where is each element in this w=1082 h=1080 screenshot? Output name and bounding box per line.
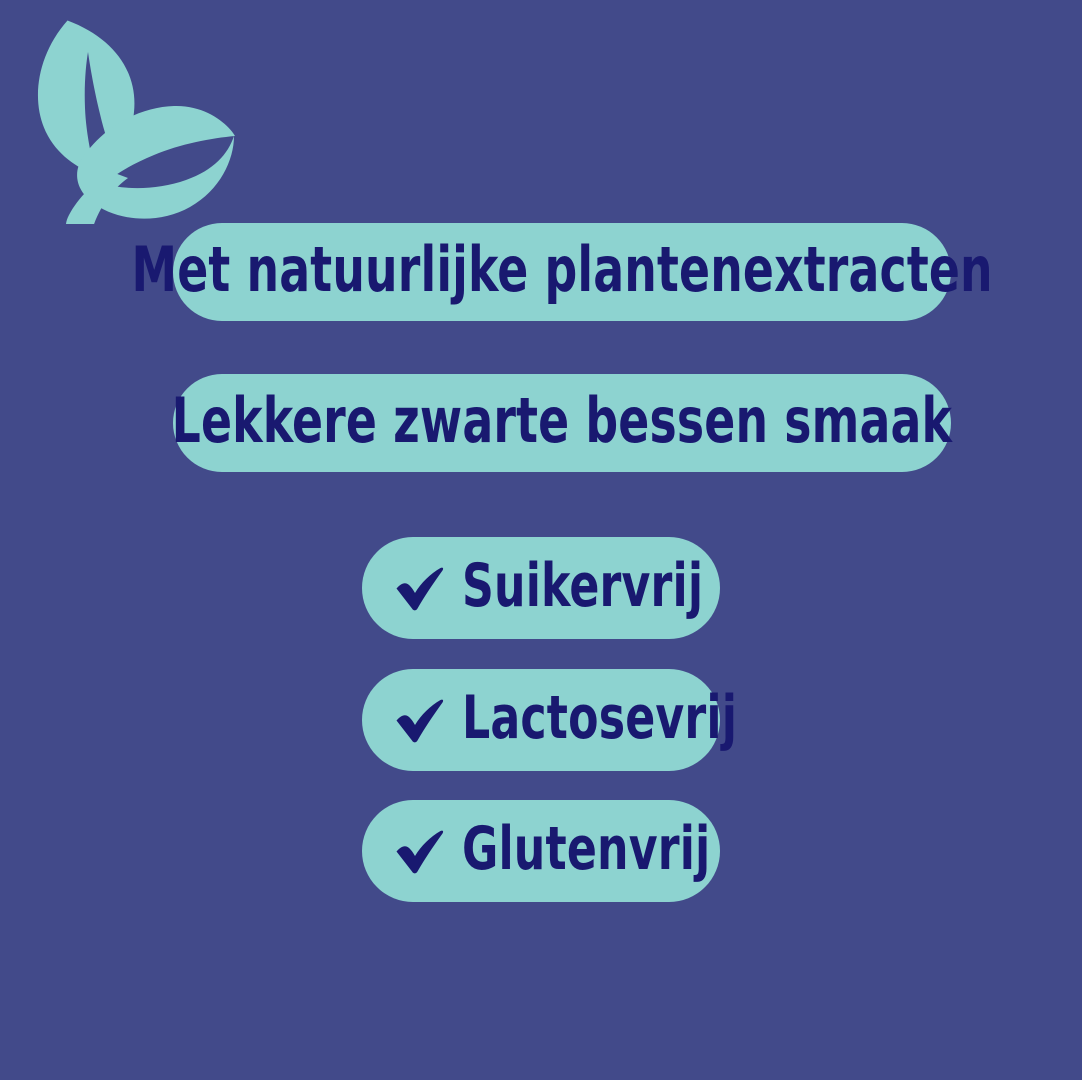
claim-label: Suikervrij [462, 556, 703, 616]
claim-label: Glutenvrij [462, 819, 710, 879]
claim-pill-glutenvrij: Glutenvrij [362, 800, 720, 902]
claim-label: Lekkere zwarte bessen smaak [172, 390, 952, 452]
claim-pill-bessensmaak: Lekkere zwarte bessen smaak [173, 374, 951, 472]
leaf-icon [22, 12, 252, 224]
promo-poster: Met natuurlijke plantenextracten Lekkere… [0, 0, 1082, 1080]
claim-label: Lactosevrij [462, 688, 737, 748]
claim-label: Met natuurlijke plantenextracten [131, 239, 992, 301]
claim-pill-suikervrij: Suikervrij [362, 537, 720, 639]
check-icon [392, 560, 448, 616]
check-icon [392, 823, 448, 879]
claim-pill-lactosevrij: Lactosevrij [362, 669, 720, 771]
check-icon [392, 692, 448, 748]
claim-pill-plantenextracten: Met natuurlijke plantenextracten [173, 223, 951, 321]
